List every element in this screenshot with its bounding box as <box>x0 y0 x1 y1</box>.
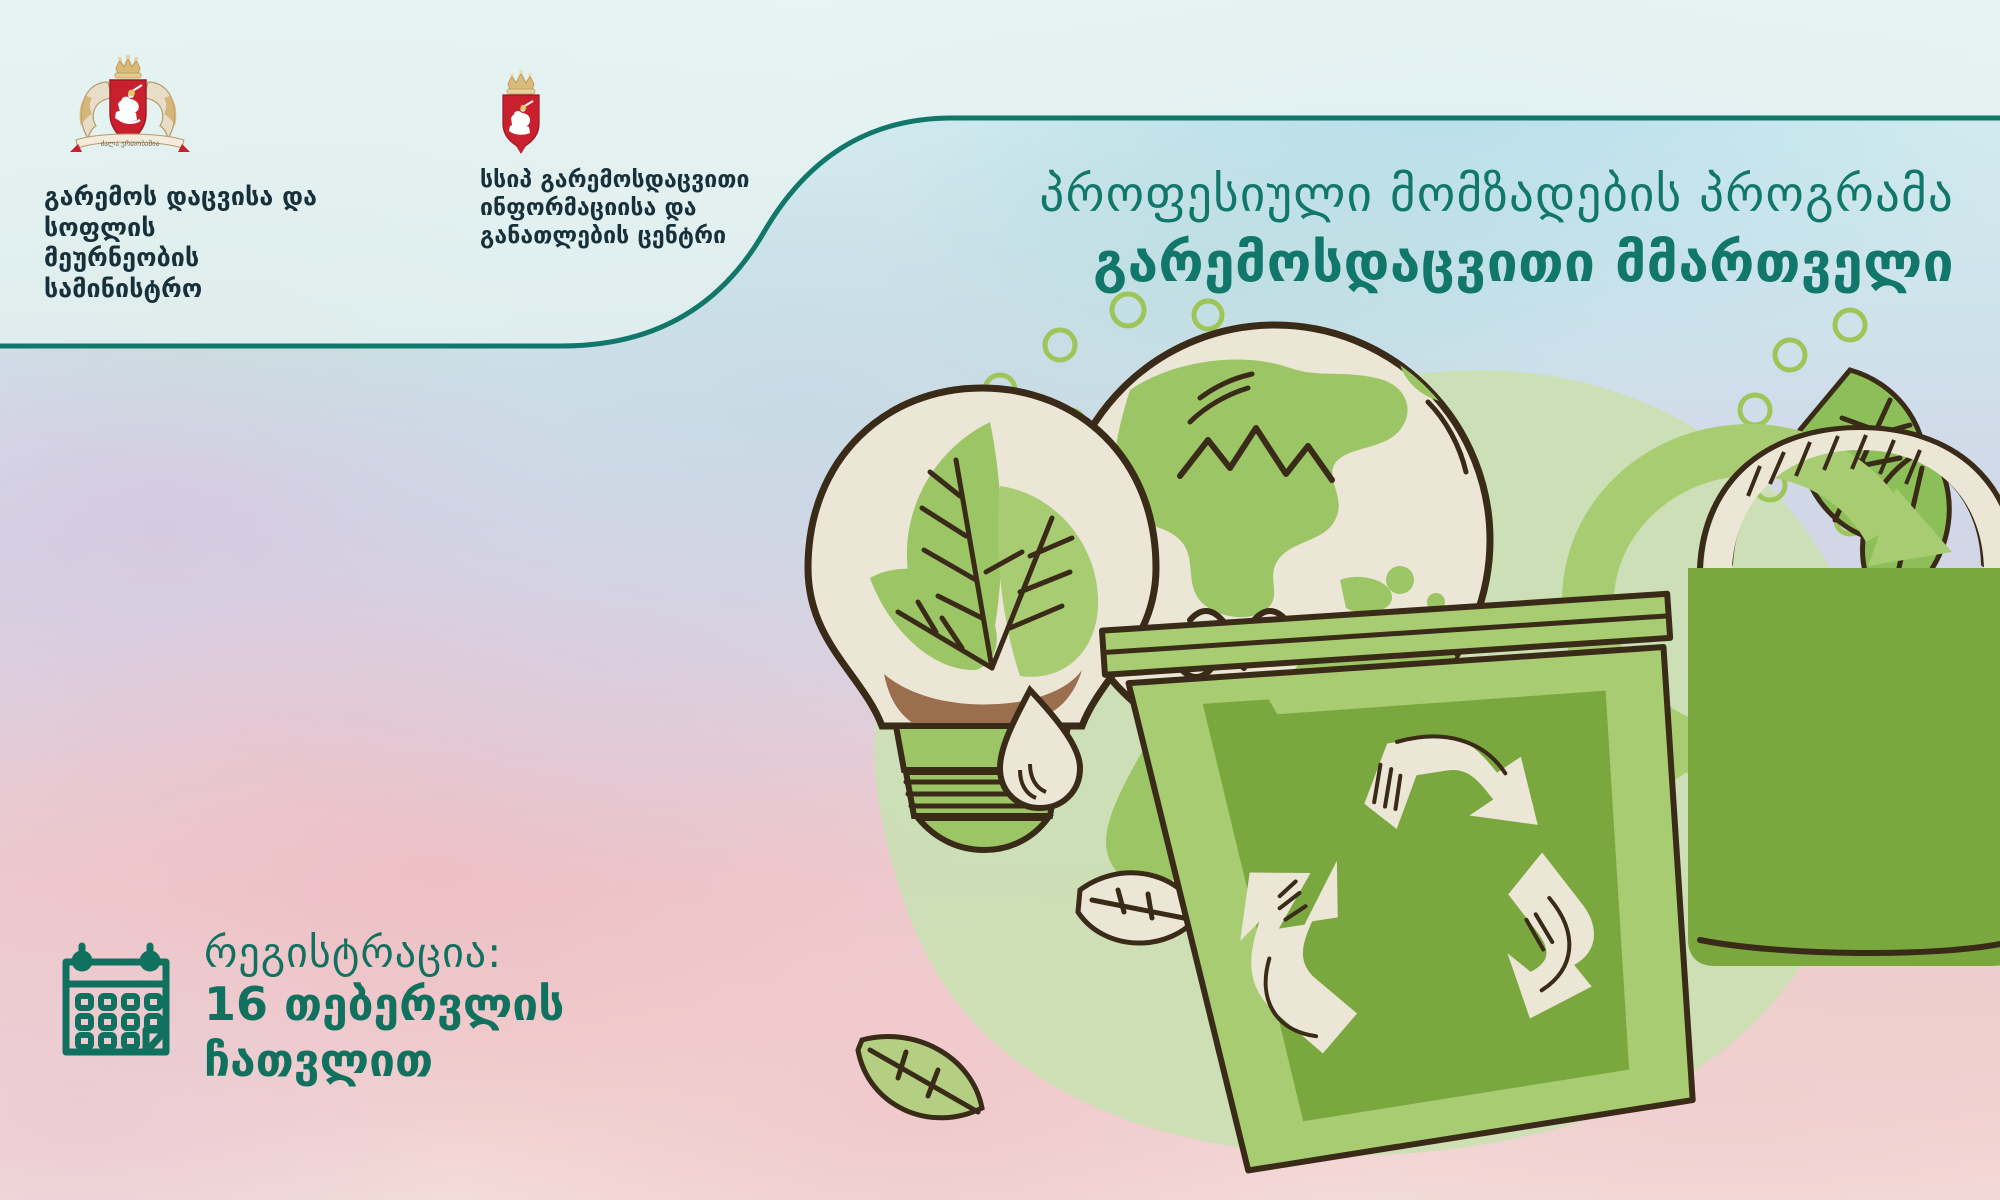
ministry-logo-caption: გარემოს დაცვისა და სოფლის მეურნეობის სამ… <box>44 182 344 304</box>
georgia-coat-of-arms-icon: ძალა ერთობაშია <box>44 52 344 164</box>
georgia-shield-crest-icon <box>480 68 820 154</box>
center-caption-line3: განათლების ცენტრი <box>480 222 820 250</box>
registration-block: რეგისტრაცია: 16 თებერვლის ჩათვლით <box>58 930 564 1086</box>
registration-text: რეგისტრაცია: 16 თებერვლის ჩათვლით <box>204 930 564 1086</box>
svg-text:ძალა ერთობაშია: ძალა ერთობაშია <box>101 139 160 148</box>
poster-canvas: ძალა ერთობაშია გარემოს დაცვისა და სოფლის… <box>0 0 2000 1200</box>
logo-row: ძალა ერთობაშია გარემოს დაცვისა და სოფლის… <box>0 0 900 270</box>
program-subtitle: პროფესიული მომზადების პროგრამა <box>834 168 1954 223</box>
leaf-icon <box>858 1037 982 1118</box>
registration-label: რეგისტრაცია: <box>204 930 564 975</box>
calendar-icon <box>58 940 174 1064</box>
environment-illustration <box>700 250 2000 1200</box>
ministry-caption-line1: გარემოს დაცვისა და სოფლის <box>44 182 344 243</box>
center-caption-line1: სსიპ გარემოსდაცვითი <box>480 166 820 194</box>
ministry-caption-line2: მეურნეობის სამინისტრო <box>44 243 344 304</box>
center-logo: სსიპ გარემოსდაცვითი ინფორმაციისა და განა… <box>480 68 820 250</box>
registration-date-line2: ჩათვლით <box>204 1035 564 1087</box>
registration-date-line1: 16 თებერვლის <box>204 979 564 1031</box>
center-logo-caption: სსიპ გარემოსდაცვითი ინფორმაციისა და განა… <box>480 166 820 250</box>
center-caption-line2: ინფორმაციისა და <box>480 194 820 222</box>
ministry-logo: ძალა ერთობაშია გარემოს დაცვისა და სოფლის… <box>44 52 344 304</box>
